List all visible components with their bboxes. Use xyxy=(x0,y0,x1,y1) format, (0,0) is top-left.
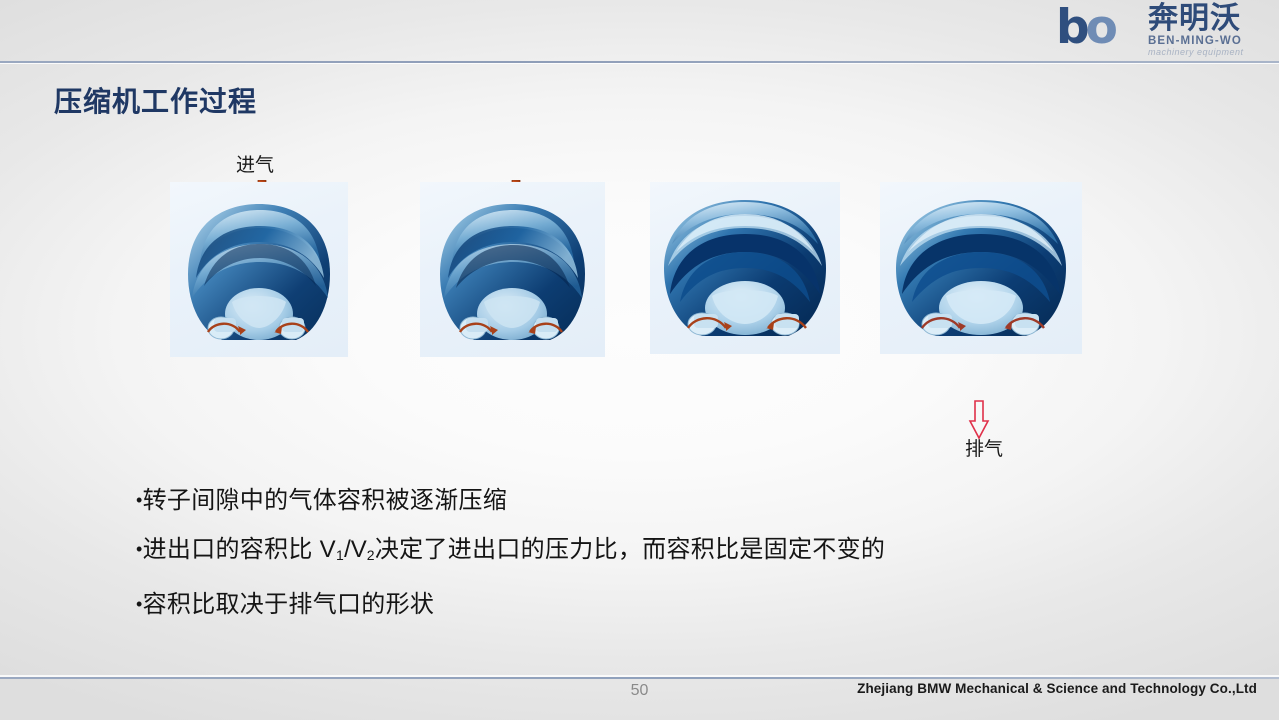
footer-company-name: Zhejiang BMW Mechanical & Science and Te… xyxy=(857,681,1257,696)
bullet-list: •转子间隙中的气体容积被逐渐压缩 •进出口的容积比 V1/V2决定了进出口的压力… xyxy=(136,476,1116,629)
footer-divider xyxy=(0,677,1279,679)
figure-image xyxy=(880,182,1082,354)
compressor-figure-4 xyxy=(880,182,1082,354)
exhaust-label: 排气 xyxy=(965,434,1003,461)
company-logo: bo 奔明沃 BEN-MING-WO machinery equipment xyxy=(1056,2,1271,58)
page-title: 压缩机工作过程 xyxy=(54,80,257,120)
screw-rotor-illustration xyxy=(420,182,605,357)
screw-rotor-illustration xyxy=(650,182,840,354)
intake-label: 进气 xyxy=(236,150,274,177)
bullet-item-3: •容积比取决于排气口的形状 xyxy=(136,580,1116,629)
bullet-marker: • xyxy=(136,539,143,559)
bullet-item-1: •转子间隙中的气体容积被逐渐压缩 xyxy=(136,476,1116,525)
logo-pinyin: BEN-MING-WO xyxy=(1148,35,1242,47)
logo-tagline: machinery equipment xyxy=(1148,47,1244,57)
bullet-text-suffix: 决定了进出口的压力比，而容积比是固定不变的 xyxy=(375,536,885,563)
figure-image xyxy=(170,182,348,357)
volume-ratio-separator: /V xyxy=(344,536,367,563)
bullet-item-2: •进出口的容积比 V1/V2决定了进出口的压力比，而容积比是固定不变的 xyxy=(136,525,1116,580)
logo-mark-b: b xyxy=(1056,0,1086,55)
bullet-text: 容积比取决于排气口的形状 xyxy=(143,591,435,618)
header-divider xyxy=(0,61,1279,63)
bullet-marker: • xyxy=(136,594,143,614)
logo-mark-icon: bo xyxy=(1056,4,1114,51)
screw-rotor-illustration xyxy=(880,182,1082,354)
volume-ratio-subscript-1: 1 xyxy=(336,547,344,563)
compressor-figure-1 xyxy=(170,182,348,357)
figure-image xyxy=(420,182,605,357)
logo-mark-o: o xyxy=(1086,0,1114,55)
bullet-text-prefix: 进出口的容积比 V xyxy=(143,536,336,563)
figure-row: 进气 xyxy=(0,150,1279,450)
bullet-marker: • xyxy=(136,490,143,510)
figure-image xyxy=(650,182,840,354)
bullet-text: 转子间隙中的气体容积被逐渐压缩 xyxy=(143,487,508,514)
logo-chinese-name: 奔明沃 xyxy=(1148,4,1241,34)
volume-ratio-subscript-2: 2 xyxy=(367,547,375,563)
screw-rotor-illustration xyxy=(170,182,348,357)
compressor-figure-2 xyxy=(420,182,605,357)
compressor-figure-3 xyxy=(650,182,840,354)
slide-canvas: bo 奔明沃 BEN-MING-WO machinery equipment 压… xyxy=(0,0,1279,720)
